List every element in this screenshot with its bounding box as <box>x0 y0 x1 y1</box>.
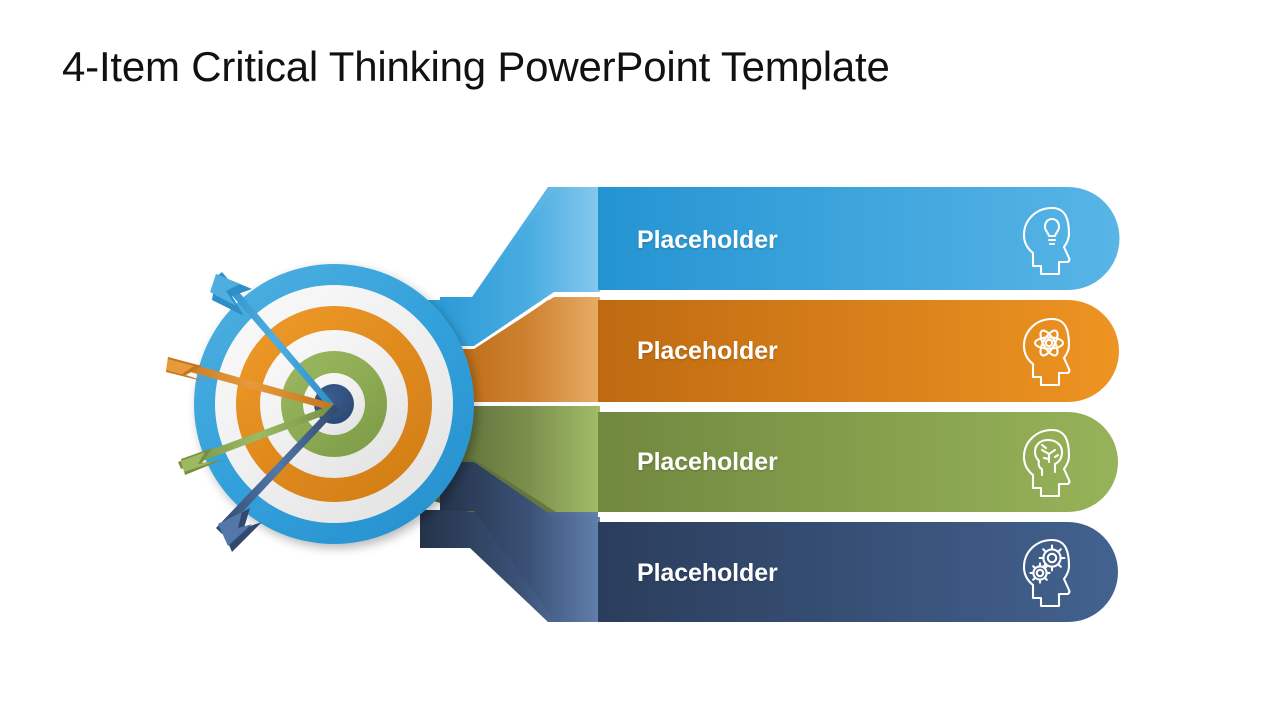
banner-label-4[interactable]: Placeholder <box>637 559 778 588</box>
banner-label-2[interactable]: Placeholder <box>637 337 778 366</box>
banner-label-3[interactable]: Placeholder <box>637 448 778 477</box>
banner-label-1[interactable]: Placeholder <box>637 226 778 255</box>
slide-canvas: 4-Item Critical Thinking PowerPoint Temp… <box>0 0 1280 720</box>
critical-thinking-diagram: Placeholder Placeholder Placeholder Plac… <box>0 0 1280 720</box>
